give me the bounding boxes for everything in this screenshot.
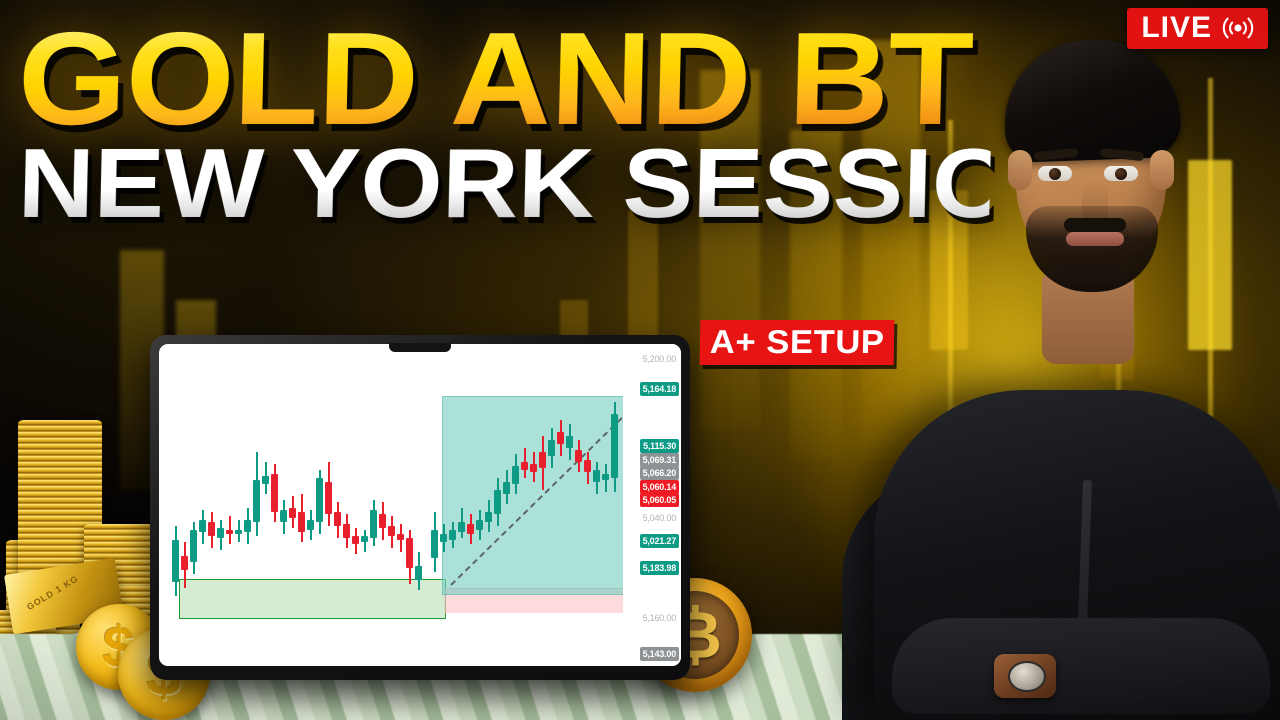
candlestick — [325, 344, 332, 666]
candlestick — [440, 344, 447, 666]
presenter-eye-right — [1104, 166, 1138, 181]
candlestick — [593, 344, 600, 666]
price-label: 5,200.00 — [640, 352, 679, 366]
price-label: 5,143.00 — [640, 647, 679, 661]
price-label: 5,164.18 — [640, 382, 679, 396]
wrist-watch — [994, 654, 1056, 698]
candlestick — [316, 344, 323, 666]
candlestick — [575, 344, 582, 666]
price-label: 5,021.27 — [640, 534, 679, 548]
candlestick-chart — [159, 344, 623, 666]
thumbnail-canvas: GOLD AND BTC NEW YORK SESSION A+ SETUP L… — [0, 0, 1280, 720]
candlestick — [494, 344, 501, 666]
presenter-ear-right — [1150, 150, 1174, 190]
price-label: 5,160.00 — [640, 611, 679, 625]
candlestick — [253, 344, 260, 666]
candlestick — [557, 344, 564, 666]
title-line-primary: GOLD AND BTC — [17, 24, 973, 135]
candlestick — [521, 344, 528, 666]
candlestick — [226, 344, 233, 666]
candlestick — [280, 344, 287, 666]
candlestick — [244, 344, 251, 666]
candlestick — [208, 344, 215, 666]
setup-badge-label: A+ SETUP — [710, 325, 885, 358]
price-label: 5,060.05 — [640, 493, 679, 507]
price-label: 5,060.14 — [640, 480, 679, 494]
candlestick — [458, 344, 465, 666]
broadcast-icon — [1221, 15, 1255, 41]
candlestick — [379, 344, 386, 666]
candlestick — [566, 344, 573, 666]
candlestick — [388, 344, 395, 666]
candlestick — [307, 344, 314, 666]
laptop-device: 5,200.005,164.185,115.305,069.315,066.20… — [150, 335, 690, 680]
candlestick — [370, 344, 377, 666]
candlestick — [181, 344, 188, 666]
candlestick — [602, 344, 609, 666]
candlestick — [271, 344, 278, 666]
candlestick — [584, 344, 591, 666]
candlestick — [512, 344, 519, 666]
candlestick — [406, 344, 413, 666]
title-line-secondary: NEW YORK SESSION — [17, 141, 991, 225]
candlestick — [343, 344, 350, 666]
candlestick — [289, 344, 296, 666]
live-badge: LIVE — [1127, 8, 1268, 49]
live-badge-label: LIVE — [1141, 13, 1212, 43]
candlestick — [485, 344, 492, 666]
candlestick — [539, 344, 546, 666]
candlestick — [449, 344, 456, 666]
laptop-screen: 5,200.005,164.185,115.305,069.315,066.20… — [159, 344, 681, 666]
candlestick — [397, 344, 404, 666]
price-label: 5,183.98 — [640, 561, 679, 575]
presenter-crossed-arms — [892, 618, 1270, 714]
price-label: 5,069.31 — [640, 453, 679, 467]
candlestick — [530, 344, 537, 666]
price-label: 5,066.20 — [640, 466, 679, 480]
candlestick — [476, 344, 483, 666]
candlestick — [235, 344, 242, 666]
laptop-notch — [389, 343, 451, 352]
candlestick — [361, 344, 368, 666]
setup-badge: A+ SETUP — [700, 320, 895, 365]
candlestick — [334, 344, 341, 666]
candlestick — [172, 344, 179, 666]
price-label: 5,115.30 — [640, 439, 679, 453]
candlestick — [611, 344, 618, 666]
candlestick — [467, 344, 474, 666]
candlestick — [548, 344, 555, 666]
title-block: GOLD AND BTC NEW YORK SESSION — [18, 24, 918, 225]
candlestick — [352, 344, 359, 666]
candlestick — [431, 344, 438, 666]
price-label: 5,040.00 — [640, 511, 679, 525]
candlestick — [217, 344, 224, 666]
candlestick — [503, 344, 510, 666]
price-axis: 5,200.005,164.185,115.305,069.315,066.20… — [623, 344, 681, 666]
candlestick — [298, 344, 305, 666]
candlestick — [415, 344, 422, 666]
candlestick — [199, 344, 206, 666]
gold-bar-stamp: GOLD 1 KG — [25, 574, 80, 613]
candlestick — [190, 344, 197, 666]
candlestick — [262, 344, 269, 666]
